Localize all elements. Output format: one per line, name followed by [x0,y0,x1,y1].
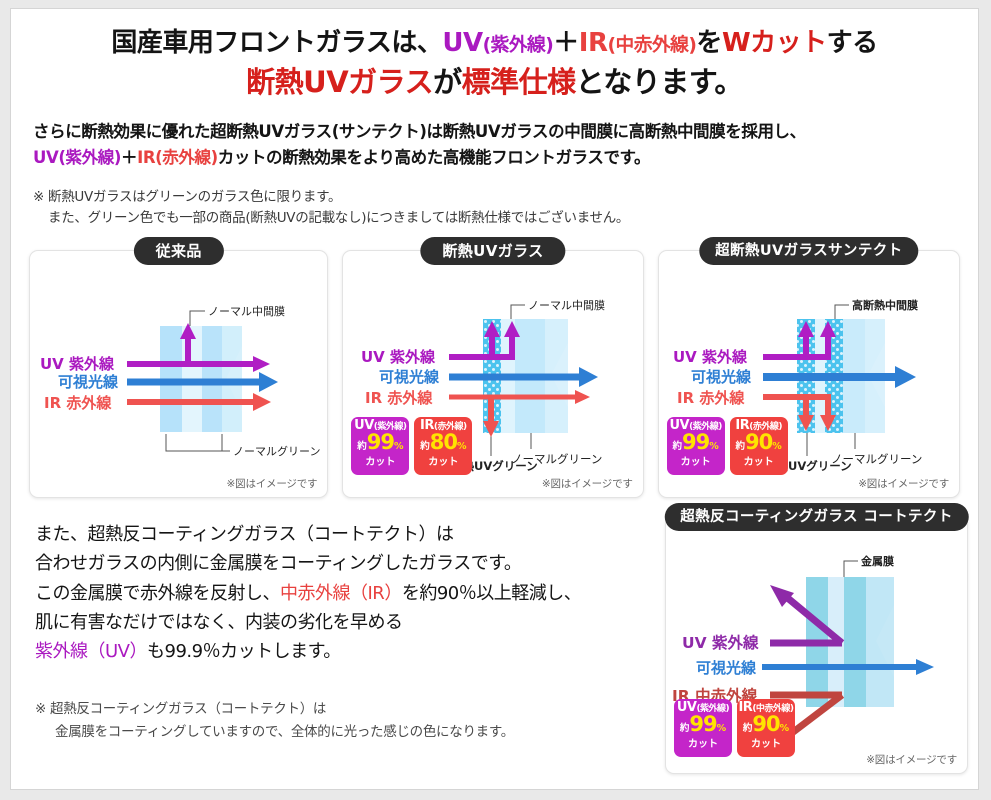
coat-tect-note-line-1: ※ 超熱反コーティングガラス（コートテクト）は [35,701,326,717]
badge-ir-main: IR [738,700,752,715]
ray-label-uv: UV 紫外線 [361,348,436,366]
badge-ir-cut: カット [414,457,472,468]
badge-ir-value: 90 [752,712,779,736]
badges-coat-tect: UV(紫外線) 約99% カット IR(中赤外線) 約90% カット [674,699,795,757]
card-super-heat-uv-suntect[interactable]: 超断熱UVガラスサンテクト [658,250,960,498]
coat-tect-line-1: また、超熱反コーティングガラス（コートテクト）は [35,520,655,549]
image-note-heat-uv-glass: ※図はイメージです [542,476,633,491]
ray-label-uv: UV 紫外線 [682,633,759,652]
coat-tect-line-4: 肌に有害なだけではなく、内装の劣化を早める [35,608,655,637]
image-note-coat-tect: ※図はイメージです [866,752,957,767]
card-coat-tect[interactable]: 超熱反コーティングガラス コートテクト 金属膜 [665,516,968,774]
ray-label-ir: IR 赤外線 [44,394,112,412]
headline: 国産車用フロントガラスは、UV(紫外線)＋IR(中赤外線)をWカットする 断熱U… [11,9,978,105]
conventional-glass-svg: ノーマル中間膜 ノーマルグリーン [30,251,330,499]
badge-uv-cut: カット [674,739,732,750]
glass-type-cards: 従来品 [29,250,960,498]
coat-tect-description: また、超熱反コーティングガラス（コートテクト）は 合わせガラスの内側に金属膜をコ… [35,520,655,666]
badge-uv-cut: カット [351,457,409,468]
callout-interlayer: ノーマル中間膜 [528,299,605,312]
callout-green: ノーマルグリーン [233,444,320,458]
disclaimer-line-1: ※ 断熱UVガラスはグリーンのガラス色に限ります。 [33,189,341,205]
card-conventional[interactable]: 従来品 [29,250,328,498]
image-note-conventional: ※図はイメージです [227,476,318,491]
badge-ir-value: 90 [745,430,772,454]
coat-tect-line-5: 紫外線（UV）も99.9％カットします。 [35,637,655,666]
ray-label-ir: IR 赤外線 [677,389,745,407]
coat-tect-line-3: この金属膜で赤外線を反射し、中赤外線（IR）を約90％以上軽減し、 [35,579,655,608]
badge-ir: IR(赤外線) 約80% カット [414,417,472,475]
headline-line-1: 国産車用フロントガラスは、UV(紫外線)＋IR(中赤外線)をWカットする [21,27,968,60]
diagram-conventional: ノーマル中間膜 ノーマルグリーン [30,251,327,497]
callout-line-interlayer [190,311,205,326]
headline-line-2: 断熱UVガラスが標準仕様となります。 [21,64,968,101]
badge-uv: UV(紫外線) 約99% カット [667,417,725,475]
callout-green: ノーマルグリーン [511,452,602,466]
badges-heat-uv-glass: UV(紫外線) 約99% カット IR(赤外線) 約80% カット [351,417,472,475]
badge-ir: IR(中赤外線) 約90% カット [737,699,795,757]
ray-label-visible: 可視光線 [696,659,757,677]
callout-green: ノーマルグリーン [831,452,922,466]
badge-uv-value: 99 [367,430,394,454]
badge-uv-value: 99 [682,430,709,454]
ray-label-visible: 可視光線 [58,373,119,391]
ray-label-ir: IR 赤外線 [365,389,433,407]
badge-ir-value: 80 [430,430,457,454]
ray-label-visible: 可視光線 [691,368,752,386]
disclaimer-line-2: また、グリーン色でも一部の商品(断熱UVの記載なし)につきましては断熱仕様ではご… [33,208,956,230]
intro-paragraph-line-2: UV(紫外線)＋IR(赤外線)カットの断熱効果をより高めた高機能フロントガラスで… [33,145,956,171]
badge-uv: UV(紫外線) 約99% カット [351,417,409,475]
intro-paragraph: さらに断熱効果に優れた超断熱UVガラス(サンテクト)は断熱UVガラスの中間膜に高… [33,119,956,170]
callout-interlayer: ノーマル中間膜 [208,305,285,318]
callout-interlayer: 高断熱中間膜 [852,298,918,312]
badge-ir-cut: カット [730,457,788,468]
infographic-page: 国産車用フロントガラスは、UV(紫外線)＋IR(中赤外線)をWカットする 断熱U… [10,8,979,790]
ray-label-uv: UV 紫外線 [40,355,115,373]
coat-tect-line-2: 合わせガラスの内側に金属膜をコーティングしたガラスです。 [35,549,655,578]
ray-label-uv: UV 紫外線 [673,348,748,366]
callout-metal: 金属膜 [861,554,894,568]
disclaimer-notes: ※ 断熱UVガラスはグリーンのガラス色に限ります。 また、グリーン色でも一部の商… [33,187,956,231]
badge-uv-value: 99 [689,712,716,736]
badge-uv-cut: カット [667,457,725,468]
card-heat-uv-glass[interactable]: 断熱UVガラス [342,250,643,498]
coat-tect-note-line-2: 金属膜をコーティングしていますので、全体的に光った感じの色になります。 [35,721,655,744]
ray-label-visible: 可視光線 [379,368,440,386]
badge-uv: UV(紫外線) 約99% カット [674,699,732,757]
coat-tect-note: ※ 超熱反コーティングガラス（コートテクト）は 金属膜をコーティングしていますの… [35,698,655,744]
image-note-suntect: ※図はイメージです [858,476,949,491]
bottom-section: また、超熱反コーティングガラス（コートテクト）は 合わせガラスの内側に金属膜をコ… [11,520,978,770]
badge-ir-cut: カット [737,739,795,750]
intro-paragraph-line-1: さらに断熱効果に優れた超断熱UVガラス(サンテクト)は断熱UVガラスの中間膜に高… [33,119,956,145]
badge-ir: IR(赤外線) 約90% カット [730,417,788,475]
badges-suntect: UV(紫外線) 約99% カット IR(赤外線) 約90% カット [667,417,788,475]
